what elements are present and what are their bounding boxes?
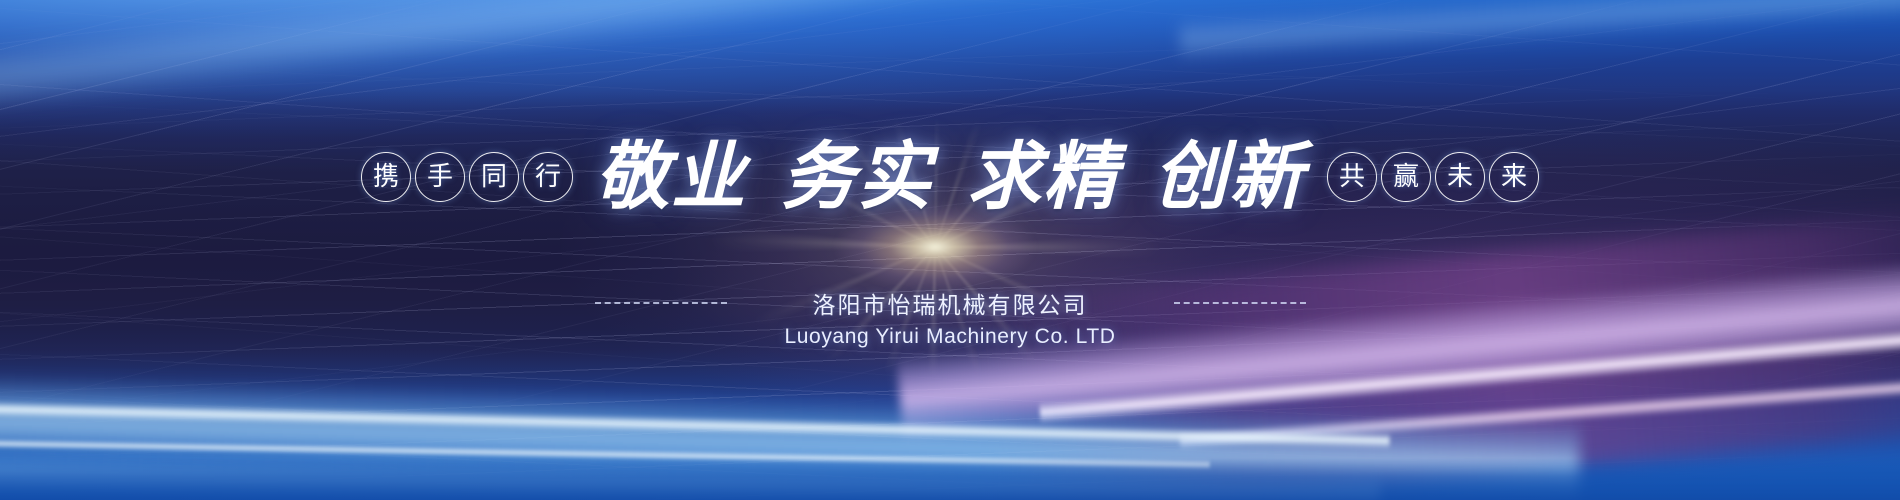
- circled-char-xing: 行: [523, 152, 573, 202]
- circled-char-lai: 来: [1489, 152, 1539, 202]
- dashed-divider-right: [1174, 302, 1306, 304]
- slogan-row: 携 手 同 行 敬业 务实 求精 创新 共 赢 未 来: [0, 112, 1900, 242]
- banner-content: 携 手 同 行 敬业 务实 求精 创新 共 赢 未 来 洛阳市怡瑞机械有限公司: [0, 0, 1900, 500]
- right-circled-characters: 共 赢 未 来: [1327, 152, 1539, 202]
- slogan-word-qiujing: 求精: [967, 140, 1119, 214]
- slogan-word-jingye: 敬业: [595, 140, 747, 214]
- hero-banner: 携 手 同 行 敬业 务实 求精 创新 共 赢 未 来 洛阳市怡瑞机械有限公司: [0, 0, 1900, 500]
- company-identity-block: 洛阳市怡瑞机械有限公司 Luoyang Yirui Machinery Co. …: [0, 286, 1900, 349]
- company-name-cn: 洛阳市怡瑞机械有限公司: [813, 286, 1088, 320]
- left-circled-characters: 携 手 同 行: [361, 152, 573, 202]
- dashed-divider-left: [595, 302, 727, 304]
- circled-char-wei: 未: [1435, 152, 1485, 202]
- slogan-word-wushi: 务实: [781, 140, 933, 214]
- company-name-en: Luoyang Yirui Machinery Co. LTD: [784, 325, 1115, 349]
- slogan-word-chuangxin: 创新: [1153, 140, 1305, 214]
- circled-char-ying: 赢: [1381, 152, 1431, 202]
- circled-char-shou: 手: [415, 152, 465, 202]
- company-name-line: 洛阳市怡瑞机械有限公司: [0, 286, 1900, 320]
- circled-char-gong: 共: [1327, 152, 1377, 202]
- circled-char-tong: 同: [469, 152, 519, 202]
- circled-char-xie: 携: [361, 152, 411, 202]
- slogan-calligraphy: 敬业 务实 求精 创新: [573, 140, 1327, 214]
